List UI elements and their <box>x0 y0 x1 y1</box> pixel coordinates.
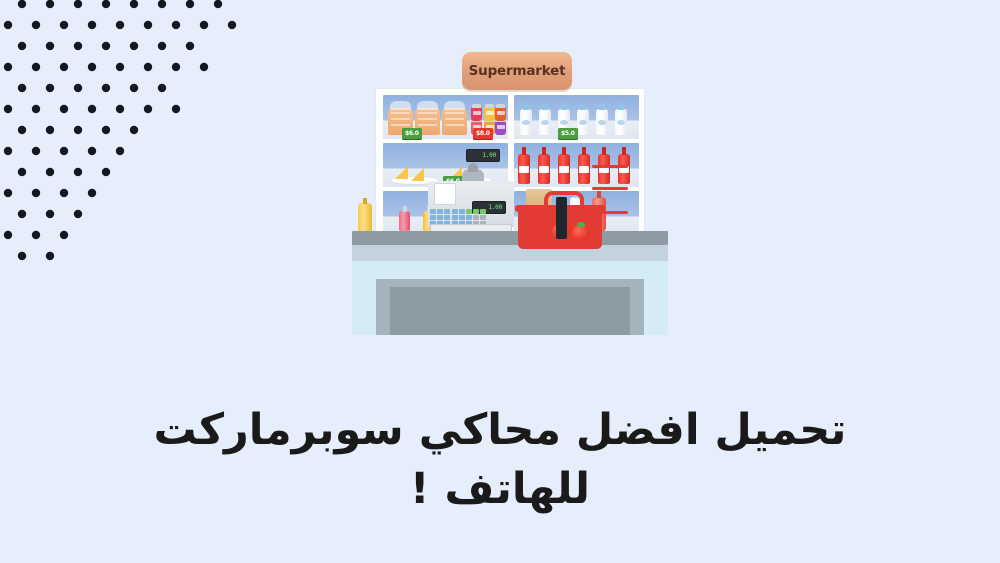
register-key <box>430 209 436 214</box>
counter-top-edge <box>352 231 668 245</box>
cheese-wedge <box>395 166 408 179</box>
dot-triangle-pattern <box>0 0 260 270</box>
yellow-bottle <box>358 203 372 233</box>
jam-jar <box>484 107 495 121</box>
register-key <box>452 209 458 214</box>
register-key <box>430 215 436 220</box>
card-reader <box>556 197 567 239</box>
register-key <box>466 215 472 220</box>
register-key <box>459 215 465 220</box>
sauce-bottle <box>538 154 550 184</box>
register-key <box>480 209 486 214</box>
price-tag: $6.0 <box>402 128 422 139</box>
register-key <box>444 209 450 214</box>
register-key <box>437 209 443 214</box>
tomato <box>572 225 590 241</box>
register-display-top-value: 1.00 <box>482 152 496 159</box>
register-key <box>473 215 479 220</box>
jam-jar <box>495 121 506 135</box>
sauce-bottle <box>578 154 590 184</box>
register-key <box>452 215 458 220</box>
register-key <box>480 215 486 220</box>
register-key <box>466 209 472 214</box>
counter-top-surface <box>352 245 668 261</box>
counter-front-panel-inner <box>390 287 630 335</box>
headline: تحميل افضل محاكي سوبرماركت للهاتف ! <box>0 401 1000 520</box>
price-tag: $8.0 <box>473 128 493 139</box>
price-tag: $5.0 <box>558 128 578 139</box>
milk-bottle <box>596 109 608 135</box>
supermarket-sign: Supermarket <box>462 52 572 90</box>
sauce-bottle <box>518 154 530 184</box>
shopping-basket <box>518 193 602 249</box>
milk-bottle <box>539 109 551 135</box>
register-key <box>444 215 450 220</box>
register-display-top: 1.00 <box>466 149 500 162</box>
milk-bottle <box>577 109 589 135</box>
jam-jar <box>471 107 482 121</box>
register-key <box>473 209 479 214</box>
supermarket-sign-label: Supermarket <box>469 63 566 79</box>
bread-loaf <box>442 108 467 135</box>
jam-jar <box>495 107 506 121</box>
sauce-bottle <box>558 154 570 184</box>
register-body: 1.00 <box>428 181 514 227</box>
receipt-paper <box>434 183 456 205</box>
supermarket-checkout-illustration: Supermarket $6.0 $8.0 <box>340 45 680 340</box>
register-display-front-value: 1.00 <box>488 204 502 211</box>
milk-bottle <box>520 109 532 135</box>
cheese-wedge <box>411 168 424 181</box>
register-key <box>459 209 465 214</box>
milk-bottle <box>615 109 627 135</box>
register-key <box>437 215 443 220</box>
pink-bottle <box>399 211 410 231</box>
poster-canvas: Supermarket $6.0 $8.0 <box>0 0 1000 563</box>
